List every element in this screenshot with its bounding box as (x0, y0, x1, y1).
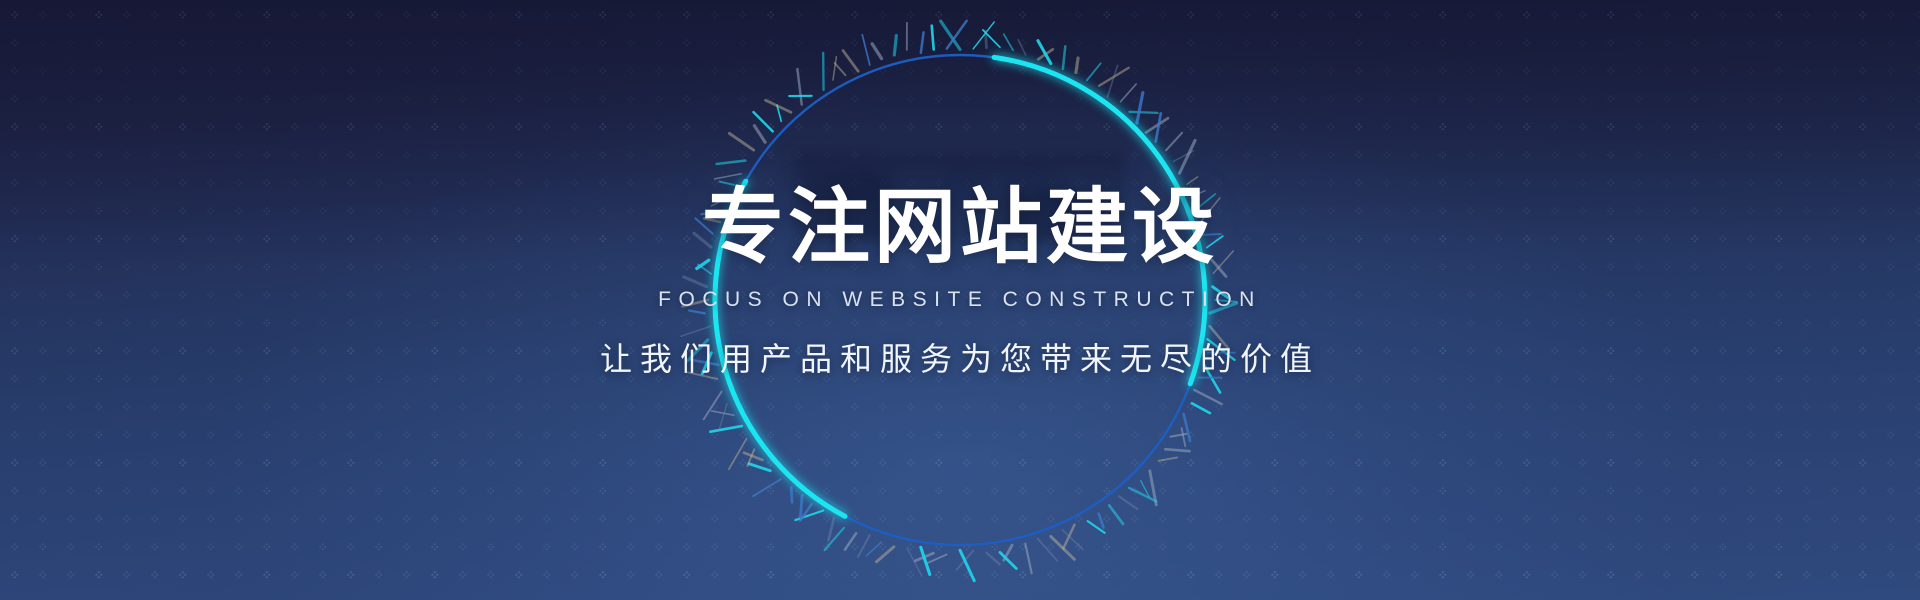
ring-tick (747, 449, 754, 465)
page-title: 专注网站建设 (0, 186, 1920, 270)
ring-tick (801, 504, 812, 520)
ring-tick (1165, 449, 1189, 451)
ring-tick (717, 161, 746, 164)
ring-tick (1004, 545, 1012, 560)
ring-tick (715, 174, 742, 179)
ring-tick (957, 551, 973, 570)
ring-tick (973, 22, 994, 49)
ring-tick (941, 21, 960, 49)
ring-tick (1063, 525, 1074, 549)
ring-tick (1192, 403, 1210, 413)
ring-tick (825, 528, 844, 550)
ring-tick (753, 479, 781, 496)
ring-tick (754, 126, 765, 143)
ring-tick (1137, 93, 1143, 123)
ring-tick (1076, 58, 1078, 72)
ring-tick (1099, 514, 1104, 528)
ring-tick (1146, 118, 1168, 132)
ring-tick (960, 550, 974, 580)
ring-tick (1087, 63, 1101, 80)
ring-tick (797, 69, 801, 104)
ring-tick (866, 542, 881, 555)
ring-tick (1121, 84, 1137, 102)
ring-tick (744, 453, 763, 460)
ring-tick (894, 36, 896, 55)
ring-tick (932, 26, 934, 50)
ring-tick (907, 548, 922, 576)
ring-tick (1004, 34, 1013, 50)
subtitle-english: FOCUS ON WEBSITE CONSTRUCTION (0, 288, 1920, 312)
ring-tick (843, 51, 858, 72)
ring-tick (1109, 505, 1123, 524)
ring-tick (729, 439, 747, 470)
ring-tick (1063, 46, 1065, 68)
ring-tick (1129, 112, 1157, 113)
ring-tick (1182, 428, 1186, 446)
ring-tick (928, 554, 947, 563)
ring-tick (1037, 539, 1057, 561)
ring-tick (833, 57, 836, 80)
ring-tick (983, 30, 1000, 47)
ring-tick (862, 35, 870, 65)
ring-tick (1170, 434, 1186, 437)
ring-tick (712, 411, 734, 415)
ring-tick (987, 553, 1000, 565)
ring-tick (1107, 65, 1117, 97)
ring-tick (985, 31, 986, 48)
ring-tick (1099, 68, 1129, 86)
ring-tick (1038, 49, 1053, 59)
ring-tick (1018, 40, 1026, 55)
ring-tick (1141, 481, 1150, 497)
ring-tick (921, 547, 930, 574)
ring-tick (1062, 530, 1083, 550)
ring-tick (1051, 536, 1075, 559)
ring-tick (795, 510, 823, 520)
ring-tick (766, 100, 791, 112)
ring-tick (1129, 488, 1156, 502)
ring-tick (835, 63, 846, 75)
ring-tick (872, 44, 881, 59)
ring-tick (704, 392, 722, 420)
ring-tick (1194, 390, 1222, 404)
hero-text-block: 专注网站建设 FOCUS ON WEBSITE CONSTRUCTION 让我们… (0, 186, 1920, 380)
hero-banner: 专注网站建设 FOCUS ON WEBSITE CONSTRUCTION 让我们… (0, 0, 1920, 600)
ring-tick (1173, 151, 1193, 162)
ring-tick (1000, 552, 1016, 568)
ring-tick (1156, 113, 1161, 141)
ring-tick (845, 533, 856, 549)
ring-tick (1038, 41, 1051, 64)
ring-tick (801, 495, 803, 517)
ring-tick (719, 404, 727, 432)
ring-tick (915, 553, 933, 561)
ring-tick (1088, 521, 1105, 533)
ring-tick (729, 133, 753, 150)
ring-tick (791, 488, 792, 503)
ring-tick (1025, 544, 1031, 574)
ring-tick (1184, 414, 1190, 441)
subtitle-chinese: 让我们用产品和服务为您带来无尽的价值 (0, 334, 1920, 380)
ring-tick (1159, 457, 1178, 460)
ring-tick (947, 21, 967, 49)
ring-tick (754, 112, 773, 131)
ring-tick (858, 535, 870, 557)
ring-tick (1119, 496, 1137, 509)
ring-tick (777, 105, 781, 121)
ring-tick (1166, 133, 1182, 151)
ring-tick (828, 518, 834, 540)
ring-tick (921, 32, 924, 52)
ring-tick (1180, 140, 1196, 173)
ring-tick (710, 426, 741, 432)
ring-tick (1150, 471, 1156, 505)
ring-tick (877, 547, 894, 562)
ring-tick (749, 464, 770, 471)
